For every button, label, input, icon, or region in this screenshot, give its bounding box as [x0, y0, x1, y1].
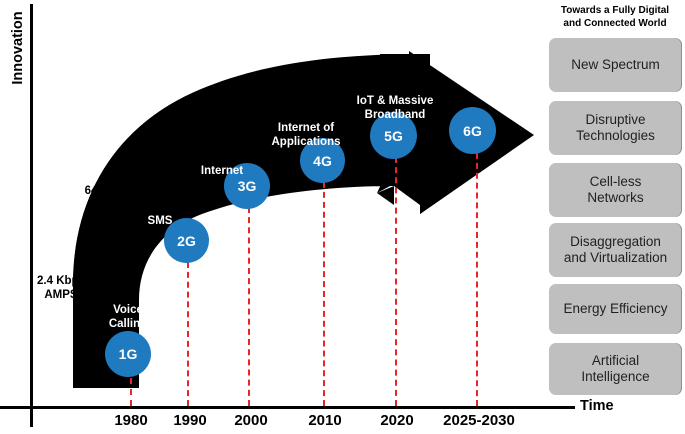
tech-label-5g: 1-10 Gbps: [316, 68, 402, 82]
side-panel-item-label: Artificial Intelligence: [581, 353, 649, 385]
side-panel-item-label: Disaggregation and Virtualization: [564, 234, 667, 266]
side-panel-item-new-spectrum[interactable]: New Spectrum: [549, 38, 682, 92]
tech-label-4g: 100-1000 Mbps LTE: [203, 85, 323, 113]
generation-circle-label: 6G: [463, 123, 482, 139]
tech-label-3g: 2 Mbps WCDMA: [140, 119, 224, 147]
x-tick-2025-2030: 2025-2030: [443, 412, 515, 429]
evolution-timeline-figure: Innovation Time 1G 2G 3G 4G 5G 6G 2.4 Kb…: [0, 0, 685, 434]
dropline-4g: [323, 182, 325, 406]
feature-label-5g: IoT & Massive Broadband: [340, 94, 450, 122]
generation-circle-label: 5G: [384, 128, 403, 144]
tech-label-1g: 2.4 Kbps AMPS: [24, 274, 98, 302]
feature-label-3g: Internet: [190, 164, 254, 178]
side-panel: Towards a Fully Digital and Connected Wo…: [545, 0, 685, 434]
x-tick-2000: 2000: [234, 412, 267, 429]
feature-label-4g: Internet of Applications: [265, 121, 347, 149]
x-tick-1980: 1980: [114, 412, 147, 429]
side-panel-item-artificial-intelligence[interactable]: Artificial Intelligence: [549, 343, 682, 395]
x-tick-2010: 2010: [308, 412, 341, 429]
side-panel-item-disruptive-technologies[interactable]: Disruptive Technologies: [549, 101, 682, 155]
dropline-6g: [476, 153, 478, 406]
side-panel-item-label: New Spectrum: [571, 57, 660, 73]
generation-circle-label: 4G: [313, 153, 332, 169]
dropline-5g: [395, 157, 397, 406]
tech-label-2g: 64 Kbps GSM: [68, 184, 146, 212]
side-panel-title: Towards a Fully Digital and Connected Wo…: [545, 5, 685, 30]
generation-circle-6g[interactable]: 6G: [449, 107, 496, 154]
generation-circle-label: 3G: [238, 178, 257, 194]
generation-circle-label: 1G: [119, 346, 138, 362]
feature-label-1g: Voice Calling: [93, 303, 163, 331]
side-panel-item-label: Energy Efficiency: [563, 301, 667, 317]
side-panel-item-energy-efficiency[interactable]: Energy Efficiency: [549, 284, 682, 334]
generation-circle-label: 2G: [177, 233, 196, 249]
side-panel-item-cell-less-networks[interactable]: Cell-less Networks: [549, 163, 682, 217]
side-panel-item-label: Disruptive Technologies: [576, 112, 655, 144]
generation-circle-1g[interactable]: 1G: [105, 331, 151, 377]
x-tick-1990: 1990: [173, 412, 206, 429]
dropline-2g: [187, 262, 189, 406]
dropline-3g: [248, 207, 250, 406]
side-panel-item-disaggregation-and-virtualization[interactable]: Disaggregation and Virtualization: [549, 223, 682, 277]
x-tick-2020: 2020: [380, 412, 413, 429]
side-panel-item-label: Cell-less Networks: [587, 174, 643, 206]
feature-label-2g: SMS: [134, 214, 186, 228]
